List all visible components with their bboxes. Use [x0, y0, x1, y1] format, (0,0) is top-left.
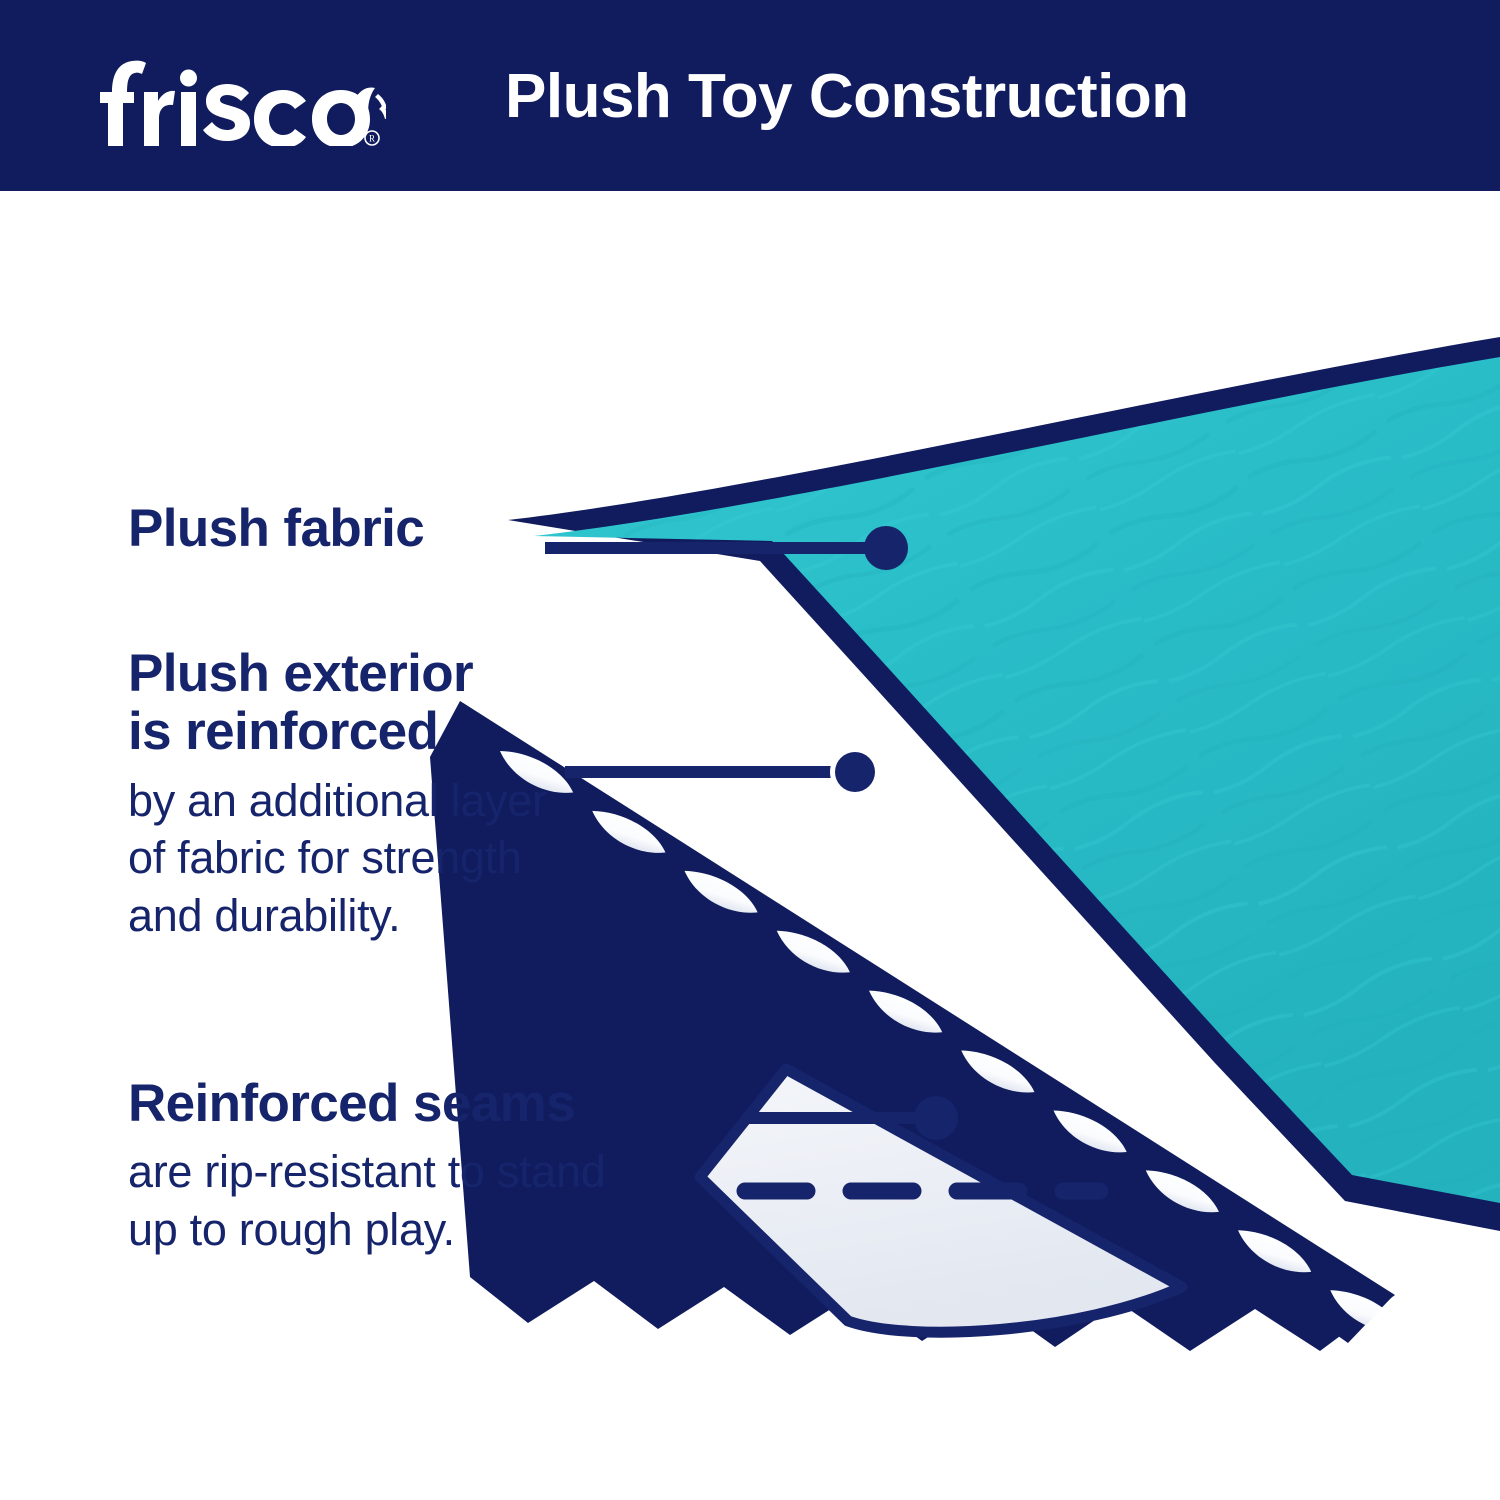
svg-text:R: R: [369, 134, 375, 144]
callout-body-line: and durability.: [128, 887, 547, 945]
callout-heading-line: is reinforced: [128, 703, 547, 761]
callout-body: by an additional layer of fabric for str…: [128, 772, 547, 945]
infographic-page: R Plush Toy Construction: [0, 0, 1500, 1500]
callout-heading-line: Reinforced seams: [128, 1075, 605, 1133]
callout-body: are rip-resistant to stand up to rough p…: [128, 1143, 605, 1258]
page-title: Plush Toy Construction: [505, 48, 1405, 144]
callout-reinforced-seams: Reinforced seams are rip-resistant to st…: [128, 1075, 605, 1258]
header-bar: R Plush Toy Construction: [0, 0, 1500, 191]
registered-trademark-mark: R: [365, 131, 379, 145]
callout-heading-line: Plush exterior: [128, 645, 547, 703]
callout-heading: Plush exterior is reinforced: [128, 645, 547, 762]
callout-body-line: are rip-resistant to stand: [128, 1143, 605, 1201]
callout-heading: Plush fabric: [128, 500, 424, 558]
frisco-logo: R: [86, 48, 386, 146]
callout-body-line: up to rough play.: [128, 1201, 605, 1259]
callout-plush-fabric: Plush fabric: [128, 500, 424, 558]
callout-plush-exterior-reinforced: Plush exterior is reinforced by an addit…: [128, 645, 547, 944]
callout-body-line: of fabric for strength: [128, 829, 547, 887]
callout-heading-line: Plush fabric: [128, 500, 424, 558]
callout-heading: Reinforced seams: [128, 1075, 605, 1133]
callout-body-line: by an additional layer: [128, 772, 547, 830]
leader-line-plush-exterior: [565, 747, 880, 797]
